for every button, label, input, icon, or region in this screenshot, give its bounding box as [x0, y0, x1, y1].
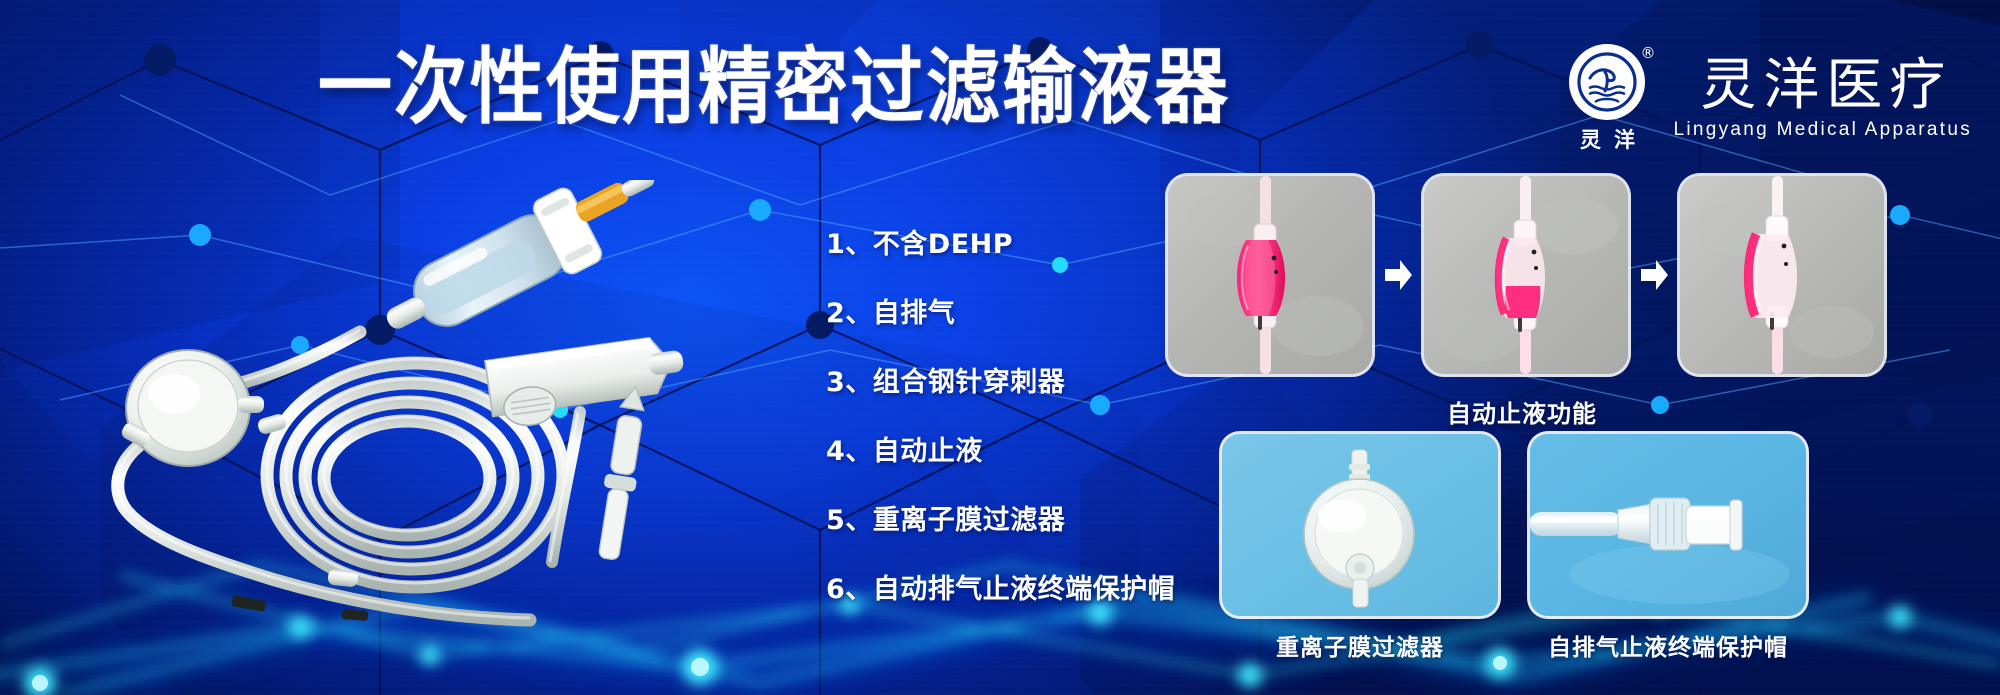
bottom-panel-captions: 重离子膜过滤器 自排气止液终端保护帽	[1222, 628, 1806, 662]
sequence-frame-1[interactable]	[1168, 176, 1372, 374]
arrow-right-icon-2	[1628, 258, 1680, 292]
registered-trademark-icon: ®	[1640, 46, 1655, 61]
brand-mark: ® 灵洋	[1561, 44, 1653, 154]
sequence-frame-3[interactable]	[1680, 176, 1884, 374]
feature-item-6: 6、自动排气止液终端保护帽	[826, 567, 1175, 606]
drip-chamber-draining-photo	[1424, 176, 1628, 374]
brand-name-block: 灵洋医疗 Lingyang Medical Apparatus	[1673, 57, 1972, 142]
arrow-right-icon	[1372, 258, 1424, 292]
feature-item-5: 5、重离子膜过滤器	[826, 498, 1175, 537]
bottom-product-panels	[1222, 434, 1806, 616]
terminal-cap-caption: 自排气止液终端保护帽	[1530, 628, 1806, 662]
feature-item-3: 3、组合钢针穿刺器	[826, 360, 1175, 399]
circular-wave-emblem-icon	[1569, 44, 1645, 120]
brand-mark-label: 灵洋	[1561, 124, 1653, 154]
feature-list: 1、不含DEHP 2、自排气 3、组合钢针穿刺器 4、自动止液 5、重离子膜过滤…	[826, 222, 1175, 606]
brand-name-cn: 灵洋医疗	[1673, 57, 1972, 116]
round-filter-photo[interactable]	[1222, 434, 1498, 616]
feature-item-1: 1、不含DEHP	[826, 222, 1175, 261]
feature-item-2: 2、自排气	[826, 291, 1175, 330]
brand-name-en: Lingyang Medical Apparatus	[1673, 119, 1972, 141]
drip-chamber-full-photo	[1168, 176, 1372, 374]
feature-item-4: 4、自动止液	[826, 429, 1175, 468]
iv-infusion-set-photo	[60, 180, 760, 640]
auto-stop-sequence	[1168, 176, 1884, 374]
auto-stop-caption: 自动止液功能	[1168, 394, 1876, 429]
filter-caption: 重离子膜过滤器	[1222, 628, 1498, 662]
brand-lockup: ® 灵洋 灵洋医疗 Lingyang Medical Apparatus	[1561, 44, 1972, 154]
drip-chamber-stopped-photo	[1680, 176, 1884, 374]
product-banner: 一次性使用精密过滤输液器 ® 灵洋 灵洋医疗 Lingyang Medical …	[0, 0, 2000, 695]
sequence-frame-2[interactable]	[1424, 176, 1628, 374]
terminal-cap-photo[interactable]	[1530, 434, 1806, 616]
banner-title: 一次性使用精密过滤输液器	[318, 46, 1230, 129]
